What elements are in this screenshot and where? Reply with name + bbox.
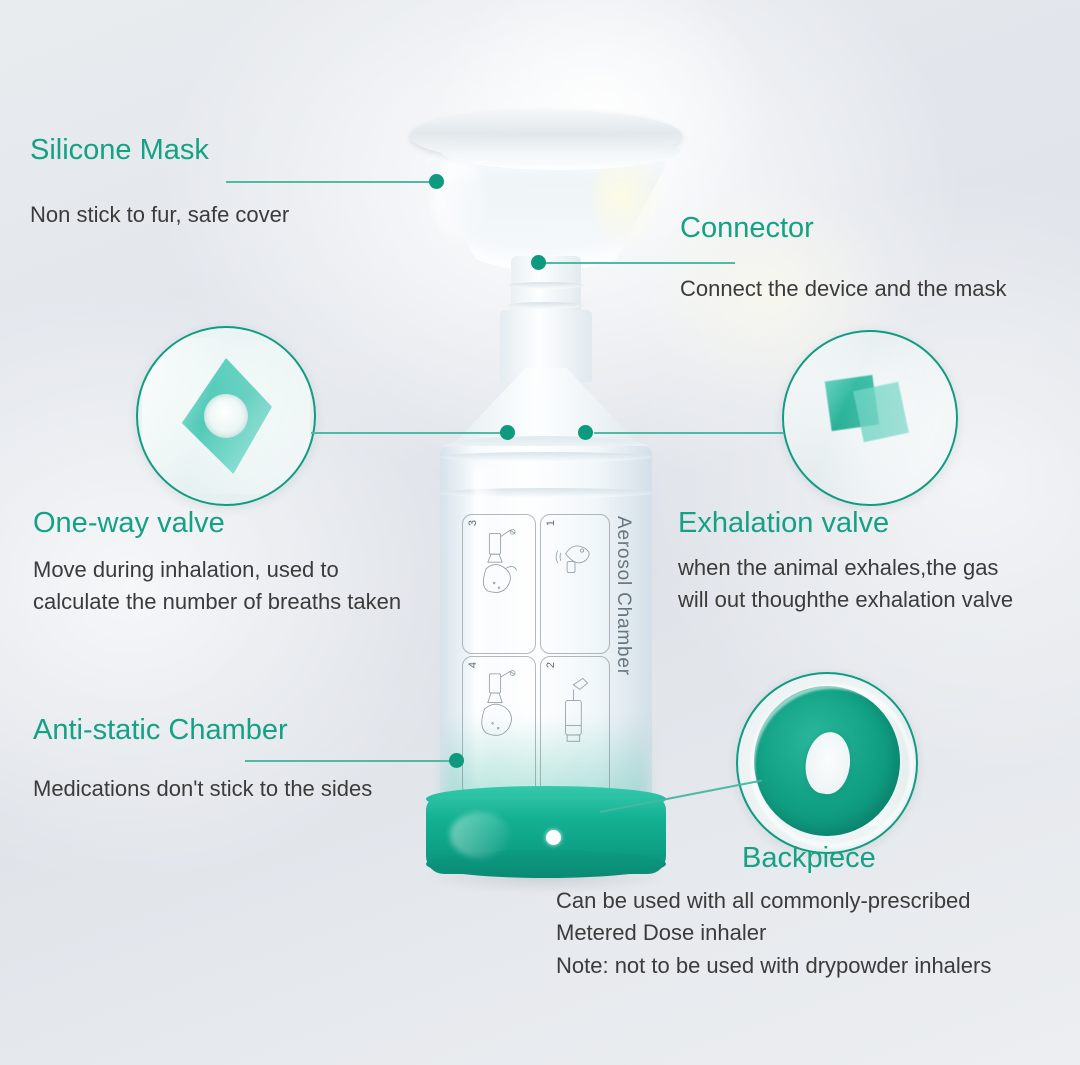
- exhalation-magnifier-sheen: [784, 332, 956, 504]
- callout-exhalation-valve: Exhalation valve when the animal exhales…: [678, 508, 1013, 617]
- leader-dot-connector: [531, 255, 546, 270]
- callout-description-line3: Note: not to be used with drypowder inha…: [556, 950, 991, 983]
- callout-connector: Connector Connect the device and the mas…: [680, 213, 1007, 305]
- callout-title: Exhalation valve: [678, 508, 1013, 540]
- one-way-valve-magnifier: [136, 326, 316, 506]
- chamber-print-label: Aerosol Chamber: [612, 516, 634, 676]
- valve-magnifier-sheen: [142, 338, 310, 494]
- backpiece-magnifier: [736, 672, 918, 854]
- attach-inhaler-icon: [553, 669, 597, 755]
- callout-title: Anti-static Chamber: [33, 715, 372, 747]
- callout-description: Medications don't stick to the sides: [33, 773, 372, 806]
- callout-backpiece: Backpiece Can be used with all commonly-…: [556, 843, 991, 983]
- callout-description-line1: Can be used with all commonly-prescribed: [556, 885, 991, 918]
- dog-mask-inhaler-step-icon: [475, 527, 523, 615]
- panel-number: 2: [545, 662, 557, 668]
- panel-number: 4: [467, 662, 479, 668]
- callout-description-line1: when the animal exhales,the gas: [678, 552, 1013, 585]
- connector-ring-upper: [508, 282, 584, 289]
- callout-description: Non stick to fur, safe cover: [30, 199, 289, 232]
- shake-inhaler-icon: [553, 527, 597, 613]
- callout-description-line2: will out thoughthe exhalation valve: [678, 584, 1013, 617]
- panel-number: 1: [545, 520, 557, 526]
- instruction-panel-group: 3 4: [462, 514, 612, 794]
- callout-description-line2: calculate the number of breaths taken: [33, 586, 401, 619]
- mask-rim: [410, 110, 682, 162]
- leader-dot-anti-static-chamber: [449, 753, 464, 768]
- instruction-panel: 2: [540, 656, 610, 796]
- chamber-ring-lower: [440, 488, 652, 498]
- instruction-panel: 4: [462, 656, 536, 796]
- leader-line-one-way-valve: [311, 432, 505, 434]
- callout-title: Backpiece: [742, 843, 991, 875]
- leader-dot-one-way-valve: [500, 425, 515, 440]
- mask-highlight-left: [432, 156, 486, 242]
- product-device-image: 3 4: [396, 96, 696, 886]
- callout-title: Silicone Mask: [30, 135, 289, 167]
- connector-ring-lower: [508, 302, 584, 309]
- callout-description: Move during inhalation, used to calculat…: [33, 554, 401, 619]
- panel-number: 3: [467, 520, 479, 526]
- callout-description: Connect the device and the mask: [680, 273, 1007, 306]
- callout-title: Connector: [680, 213, 1007, 245]
- chamber-ring-upper: [440, 452, 652, 462]
- exhalation-valve-magnifier: [782, 330, 958, 506]
- callout-description-line2: Metered Dose inhaler: [556, 917, 991, 950]
- dog-mask-inhaler-step-icon: [475, 669, 523, 757]
- instruction-panel: 3: [462, 514, 536, 654]
- callout-one-way-valve: One-way valve Move during inhalation, us…: [33, 508, 401, 619]
- callout-description: Can be used with all commonly-prescribed…: [556, 885, 991, 983]
- instruction-panel: 1: [540, 514, 610, 654]
- leader-line-exhalation-valve: [594, 432, 784, 434]
- callout-title: One-way valve: [33, 508, 401, 540]
- callout-anti-static-chamber: Anti-static Chamber Medications don't st…: [33, 715, 372, 805]
- callout-silicone-mask: Silicone Mask Non stick to fur, safe cov…: [30, 135, 289, 231]
- leader-dot-exhalation-valve: [578, 425, 593, 440]
- leader-dot-silicone-mask: [429, 174, 444, 189]
- callout-description-line1: Move during inhalation, used to: [33, 554, 401, 587]
- callout-description: when the animal exhales,the gas will out…: [678, 552, 1013, 617]
- infographic-canvas: 3 4: [0, 0, 1080, 1065]
- base-highlight: [450, 812, 510, 858]
- backpiece-ring-highlight: [750, 684, 914, 848]
- mask-rim-inner: [440, 132, 680, 170]
